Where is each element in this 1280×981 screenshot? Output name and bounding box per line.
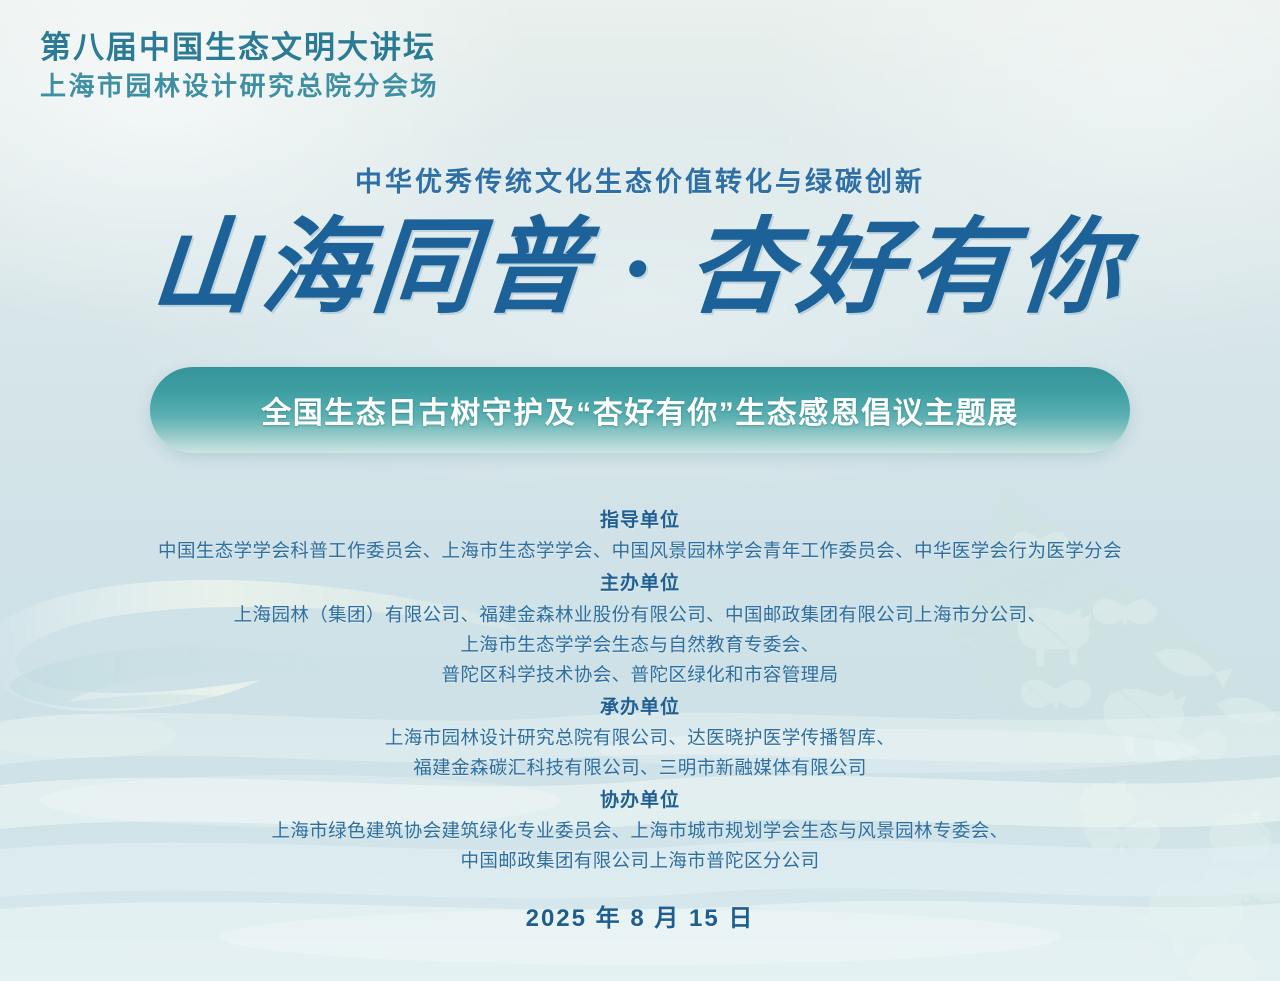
credit-block: 承办单位上海市园林设计研究总院有限公司、达医晓护医学传播智库、福建金森碳汇科技有…	[0, 692, 1280, 783]
credit-role-label: 承办单位	[0, 692, 1280, 723]
credit-org-line: 中国邮政集团有限公司上海市普陀区分公司	[0, 846, 1280, 876]
theme-banner-text: 全国生态日古树守护及“杏好有你”生态感恩倡议主题展	[261, 388, 1019, 432]
poster-canvas: 第八届中国生态文明大讲坛 上海市园林设计研究总院分会场 中华优秀传统文化生态价值…	[0, 0, 1280, 981]
credits-list: 指导单位中国生态学学会科普工作委员会、上海市生态学学会、中国风景园林学会青年工作…	[0, 505, 1280, 876]
hero-section: 中华优秀传统文化生态价值转化与绿碳创新 山海同普 · 杏好有你	[0, 160, 1280, 325]
credit-org-line: 上海园林（集团）有限公司、福建金森林业股份有限公司、中国邮政集团有限公司上海市分…	[0, 600, 1280, 630]
credit-block: 指导单位中国生态学学会科普工作委员会、上海市生态学学会、中国风景园林学会青年工作…	[0, 505, 1280, 566]
credit-org-line: 上海市园林设计研究总院有限公司、达医晓护医学传播智库、	[0, 723, 1280, 753]
credit-block: 协办单位上海市绿色建筑协会建筑绿化专业委员会、上海市城市规划学会生态与风景园林专…	[0, 785, 1280, 876]
event-date: 2025 年 8 月 15 日	[0, 898, 1280, 933]
hero-title-calligraphy: 山海同普 · 杏好有你	[0, 213, 1280, 325]
credit-org-line: 普陀区科学技术协会、普陀区绿化和市容管理局	[0, 660, 1280, 690]
credit-org-line: 中国生态学学会科普工作委员会、上海市生态学学会、中国风景园林学会青年工作委员会、…	[0, 536, 1280, 566]
theme-banner-wrap: 全国生态日古树守护及“杏好有你”生态感恩倡议主题展	[0, 367, 1280, 453]
credit-org-line: 上海市生态学学会生态与自然教育专委会、	[0, 630, 1280, 660]
event-venue-subtitle: 上海市园林设计研究总院分会场	[40, 70, 439, 105]
theme-banner: 全国生态日古树守护及“杏好有你”生态感恩倡议主题展	[150, 367, 1130, 453]
credit-role-label: 协办单位	[0, 785, 1280, 816]
credit-role-label: 主办单位	[0, 568, 1280, 599]
credit-block: 主办单位上海园林（集团）有限公司、福建金森林业股份有限公司、中国邮政集团有限公司…	[0, 568, 1280, 689]
event-header: 第八届中国生态文明大讲坛 上海市园林设计研究总院分会场	[40, 28, 439, 105]
credit-org-line: 福建金森碳汇科技有限公司、三明市新融媒体有限公司	[0, 753, 1280, 783]
event-series-title: 第八届中国生态文明大讲坛	[40, 28, 439, 68]
credit-org-line: 上海市绿色建筑协会建筑绿化专业委员会、上海市城市规划学会生态与风景园林专委会、	[0, 816, 1280, 846]
credit-role-label: 指导单位	[0, 505, 1280, 536]
credits-section: 指导单位中国生态学学会科普工作委员会、上海市生态学学会、中国风景园林学会青年工作…	[0, 505, 1280, 933]
hero-subtitle: 中华优秀传统文化生态价值转化与绿碳创新	[0, 160, 1280, 199]
